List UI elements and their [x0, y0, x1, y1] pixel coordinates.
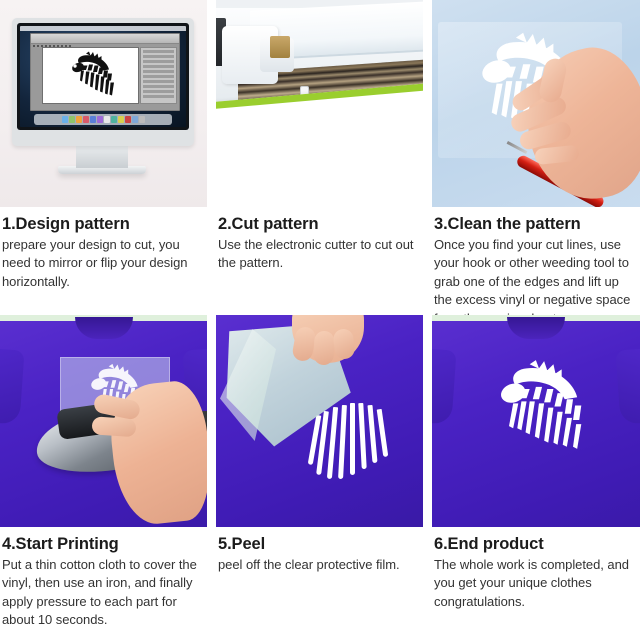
step-5-photo-peel	[216, 315, 423, 527]
dock-icon	[62, 116, 68, 123]
step-3-photo-clean-the-pattern	[432, 0, 640, 207]
step-1-title: 1.Design pattern	[0, 207, 207, 236]
step-card-4: 4.Start Printing Put a thin cotton cloth…	[0, 315, 207, 621]
design-app-window	[30, 33, 180, 111]
step-5-caption: 5.Peel peel off the clear protective fil…	[216, 527, 423, 621]
toolbar-icon	[37, 45, 39, 47]
tshirt-sleeve-right	[615, 347, 640, 424]
instruction-sheet: 1.Design pattern prepare your design to …	[0, 0, 640, 631]
panel-row	[143, 50, 174, 53]
finger	[91, 416, 136, 437]
design-app-right-panel	[140, 47, 177, 104]
step-2-title: 2.Cut pattern	[216, 207, 423, 236]
os-menu-bar	[20, 26, 186, 31]
step-6-photo-end-product	[432, 315, 640, 527]
step-4-body: Put a thin cotton cloth to cover the vin…	[0, 556, 207, 630]
step-1-caption: 1.Design pattern prepare your design to …	[0, 207, 207, 315]
green-cutting-mat	[216, 81, 423, 207]
step-4-title: 4.Start Printing	[0, 527, 207, 556]
step-card-5: 5.Peel peel off the clear protective fil…	[216, 315, 423, 621]
zebra-artwork-printed	[476, 358, 604, 459]
design-app-canvas	[42, 47, 139, 104]
dock-icon	[125, 116, 131, 123]
step-1-body: prepare your design to cut, you need to …	[0, 236, 207, 292]
step-5-title: 5.Peel	[216, 527, 423, 556]
design-app-toolbar	[31, 34, 179, 44]
dock-icon	[104, 116, 110, 123]
dock-icon	[83, 116, 89, 123]
dock-icon	[118, 116, 124, 123]
panel-row	[143, 65, 174, 68]
step-5-body: peel off the clear protective film.	[216, 556, 423, 575]
panel-row	[143, 55, 174, 58]
toolbar-icon	[33, 45, 35, 47]
finger	[534, 145, 579, 166]
tshirt-sleeve-left	[432, 347, 457, 424]
step-6-caption: 6.End product The whole work is complete…	[432, 527, 640, 621]
dock-icon	[76, 116, 82, 123]
imac-screen	[20, 26, 186, 127]
step-1-photo-design-pattern	[0, 0, 207, 207]
step-4-photo-start-printing	[0, 315, 207, 527]
finger	[313, 331, 334, 366]
step-2-caption: 2.Cut pattern Use the electronic cutter …	[216, 207, 423, 315]
panel-row	[143, 70, 174, 73]
tshirt-sleeve-left	[0, 347, 25, 424]
os-dock	[34, 114, 172, 125]
dock-icon	[132, 116, 138, 123]
tshirt-collar	[75, 317, 133, 339]
step-3-title: 3.Clean the pattern	[432, 207, 640, 236]
step-2-body: Use the electronic cutter to cut out the…	[216, 236, 423, 273]
dock-icon	[69, 116, 75, 123]
steps-row-top: 1.Design pattern prepare your design to …	[0, 0, 640, 315]
panel-row	[143, 90, 174, 93]
step-4-caption: 4.Start Printing Put a thin cotton cloth…	[0, 527, 207, 621]
imac-bezel	[17, 23, 189, 130]
dock-icon	[90, 116, 96, 123]
panel-row	[143, 60, 174, 63]
step-6-body: The whole work is completed, and you get…	[432, 556, 640, 612]
dock-icon	[97, 116, 103, 123]
dock-icon	[139, 116, 145, 123]
dock-icon	[111, 116, 117, 123]
vinyl-stripe	[350, 403, 355, 475]
step-6-title: 6.End product	[432, 527, 640, 556]
imac-monitor	[12, 18, 194, 146]
panel-row	[143, 85, 174, 88]
panel-row	[143, 75, 174, 78]
zebra-artwork-black	[60, 50, 122, 101]
cutting-blade-housing	[270, 36, 290, 58]
step-card-1: 1.Design pattern prepare your design to …	[0, 0, 207, 315]
steps-row-bottom: 4.Start Printing Put a thin cotton cloth…	[0, 315, 640, 621]
finger	[332, 328, 355, 360]
tshirt-collar	[507, 317, 565, 339]
step-card-3: 3.Clean the pattern Once you find your c…	[432, 0, 640, 315]
step-2-photo-cut-pattern	[216, 0, 423, 207]
step-3-caption: 3.Clean the pattern Once you find your c…	[432, 207, 640, 315]
step-card-6: 6.End product The whole work is complete…	[432, 315, 640, 621]
imac-neck	[76, 146, 128, 168]
step-card-2: 2.Cut pattern Use the electronic cutter …	[216, 0, 423, 315]
panel-row	[143, 95, 174, 98]
panel-row	[143, 80, 174, 83]
